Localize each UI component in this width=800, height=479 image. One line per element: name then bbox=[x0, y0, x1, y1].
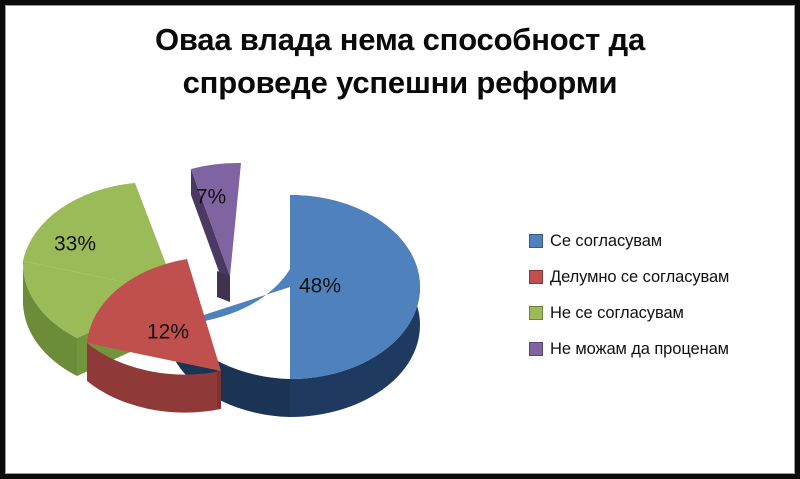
legend-item-se-soglasuvam[interactable]: Се согласувам bbox=[529, 223, 800, 259]
legend-item-ne-mozam-da-procenam[interactable]: Не можам да проценам bbox=[529, 331, 800, 367]
legend-swatch-icon-se-soglasuvam bbox=[529, 234, 543, 248]
legend-item-ne-se-soglasuvam[interactable]: Не се согласувам bbox=[529, 295, 800, 331]
pie-chart-plot-area: 48% 33% 7% 12% bbox=[5, 145, 525, 445]
chart-title: Оваа влада нема способност да спроведе у… bbox=[65, 19, 735, 105]
chart-legend: Се согласувам Делумно се согласувам Не с… bbox=[529, 223, 800, 367]
legend-label-ne-se-soglasuvam: Не се согласувам bbox=[550, 304, 684, 323]
legend-swatch-icon-ne-mozam-da-procenam bbox=[529, 342, 543, 356]
pie-chart-svg: 48% 33% 7% 12% bbox=[5, 145, 525, 445]
pie-slice-ne-mozam-da-procenam[interactable]: 7% bbox=[191, 163, 241, 302]
chart-frame: Оваа влада нема способност да спроведе у… bbox=[0, 0, 800, 479]
pie-slice-label-se-soglasuvam: 48% bbox=[299, 275, 341, 298]
pie-slice-label-ne-mozam-da-procenam: 7% bbox=[196, 186, 226, 209]
pie-slice-ne-mozam-da-procenam-side2 bbox=[217, 271, 230, 302]
pie-slice-label-ne-se-soglasuvam: 33% bbox=[54, 233, 96, 256]
pie-slice-label-delumno-se-soglasuvam: 12% bbox=[147, 321, 189, 344]
legend-label-ne-mozam-da-procenam: Не можам да проценам bbox=[550, 340, 729, 359]
legend-item-delumno-se-soglasuvam[interactable]: Делумно се согласувам bbox=[529, 259, 800, 295]
pie-slice-delumno-se-soglasuvam-side2 bbox=[217, 369, 221, 409]
legend-label-delumno-se-soglasuvam: Делумно се согласувам bbox=[550, 268, 729, 287]
legend-swatch-icon-delumno-se-soglasuvam bbox=[529, 270, 543, 284]
legend-label-se-soglasuvam: Се согласувам bbox=[550, 232, 662, 251]
legend-swatch-icon-ne-se-soglasuvam bbox=[529, 306, 543, 320]
